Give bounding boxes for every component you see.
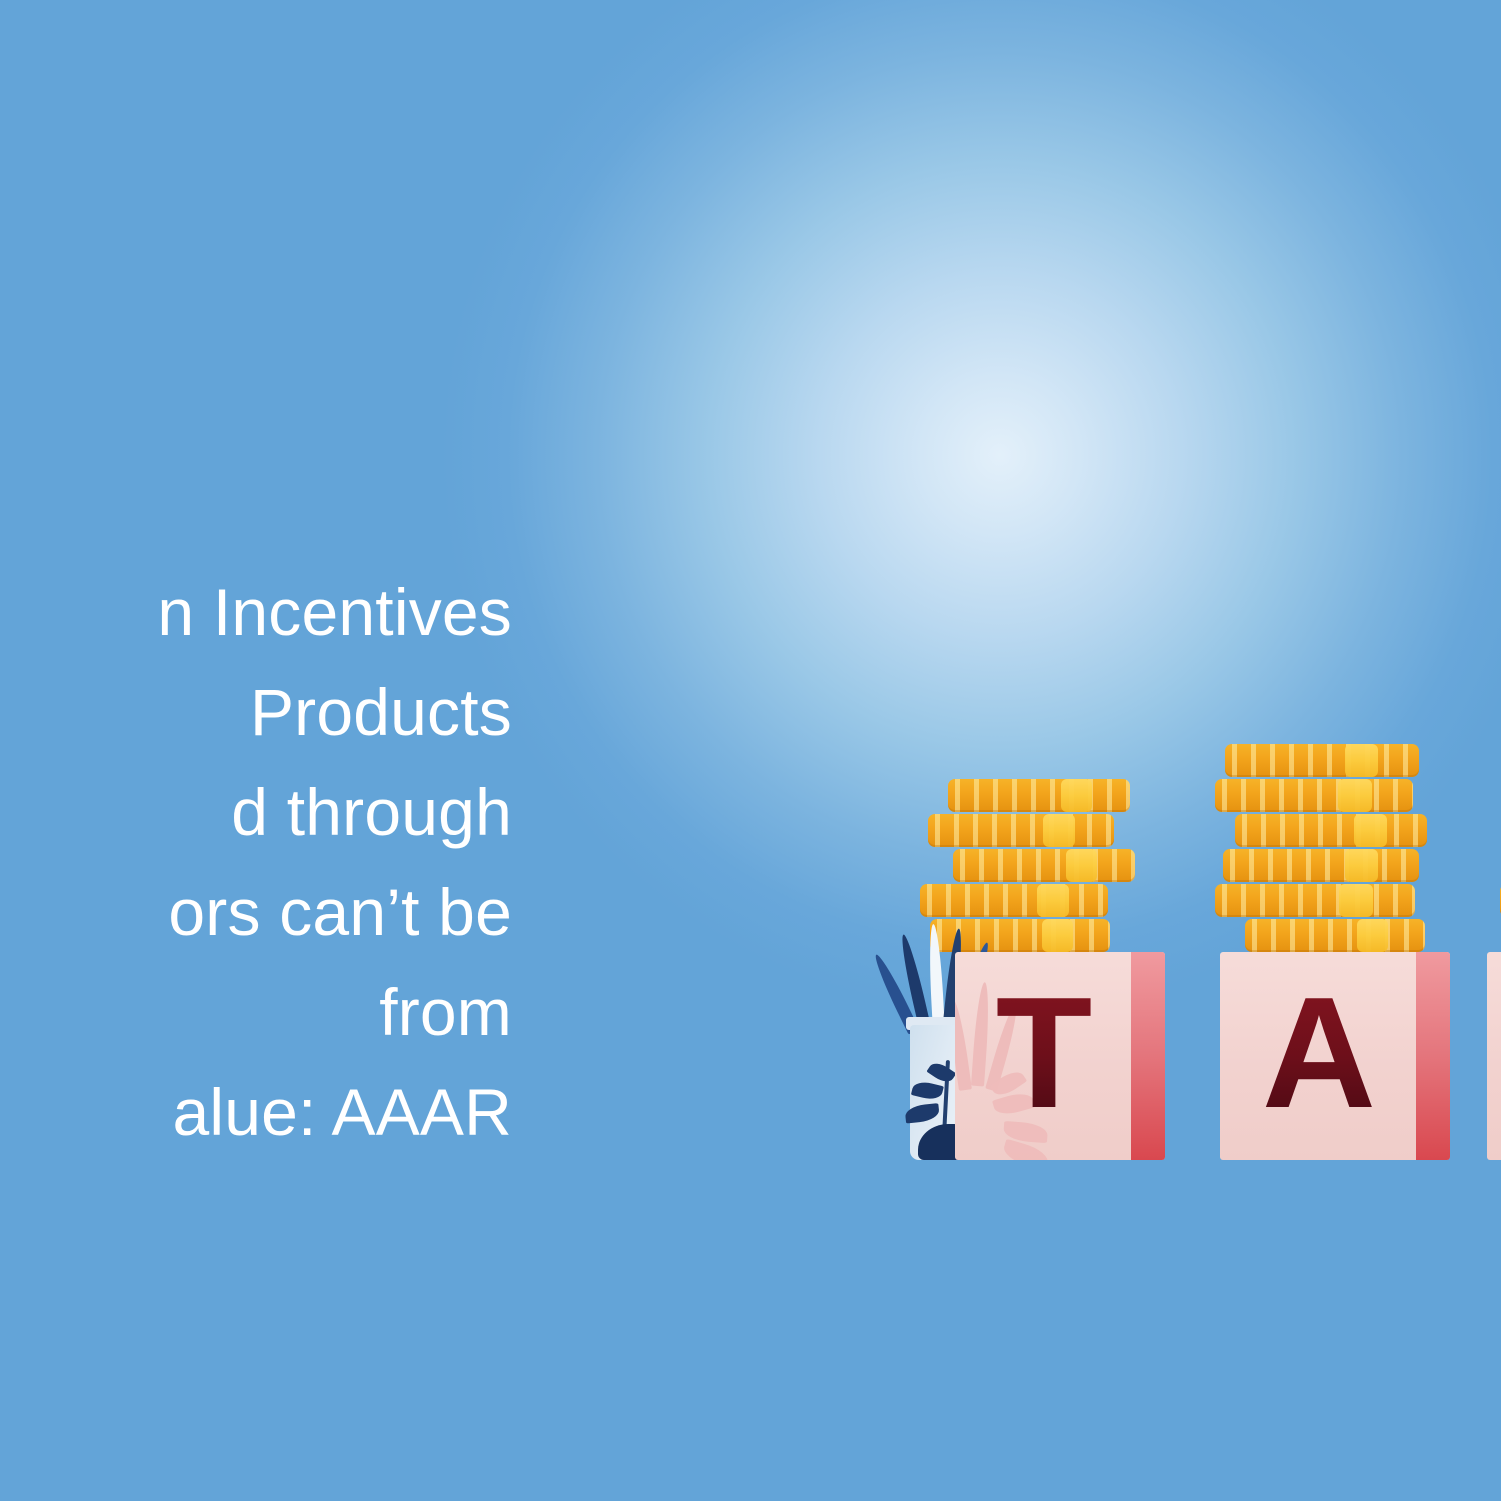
coin xyxy=(1245,919,1425,952)
letter-block-t: T xyxy=(955,952,1165,1160)
tax-illustration: T A X xyxy=(860,700,1501,1160)
headline-line-5: from xyxy=(0,962,560,1062)
coin xyxy=(1223,849,1419,882)
coin xyxy=(1225,744,1419,777)
coin-stack-2 xyxy=(1215,742,1430,952)
block-letter: X xyxy=(1487,952,1501,1160)
headline-line-4: ors can’t be xyxy=(0,862,560,962)
coin-highlight xyxy=(1043,814,1075,847)
coin-highlight xyxy=(1354,814,1387,847)
coin-highlight xyxy=(1345,744,1378,777)
coin-highlight xyxy=(1037,884,1069,917)
coin-highlight xyxy=(1066,849,1097,882)
coin xyxy=(953,849,1135,882)
headline: n Incentives Products d through ors can’… xyxy=(0,562,560,1162)
letter-block-x: X xyxy=(1487,952,1501,1160)
headline-line-2: Products xyxy=(0,662,560,762)
block-letter: T xyxy=(955,952,1165,1160)
coin xyxy=(1215,884,1415,917)
coin-highlight xyxy=(1061,779,1092,812)
coin xyxy=(920,884,1108,917)
coin xyxy=(1235,814,1427,847)
headline-line-6: alue: AAAR xyxy=(0,1062,560,1162)
headline-line-3: d through xyxy=(0,762,560,862)
coin-highlight xyxy=(1338,779,1372,812)
headline-line-1: n Incentives xyxy=(0,562,560,662)
block-letter: A xyxy=(1220,952,1450,1160)
coin xyxy=(1215,779,1413,812)
letter-block-a: A xyxy=(1220,952,1450,1160)
coin-highlight xyxy=(1357,919,1388,952)
coin xyxy=(948,779,1130,812)
coin-highlight xyxy=(1042,919,1073,952)
coin xyxy=(928,814,1114,847)
banner-canvas: n Incentives Products d through ors can’… xyxy=(0,0,1501,1501)
coin-highlight xyxy=(1345,849,1378,882)
coin-highlight xyxy=(1339,884,1373,917)
